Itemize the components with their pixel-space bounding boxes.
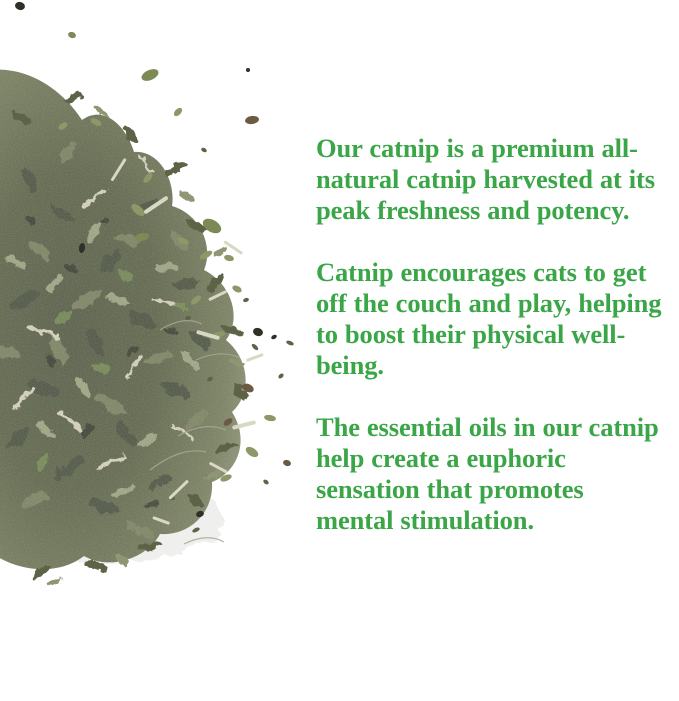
marketing-copy: Our catnip is a premium all-natural catn… bbox=[316, 133, 668, 536]
copy-paragraph-essential-oils: The essential oils in our catnip help cr… bbox=[316, 412, 668, 536]
catnip-product-photo bbox=[0, 0, 330, 620]
copy-paragraph-quality: Our catnip is a premium all-natural catn… bbox=[316, 133, 668, 226]
product-marketing-graphic: Our catnip is a premium all-natural catn… bbox=[0, 0, 679, 701]
copy-paragraph-activity: Catnip encourages cats to get off the co… bbox=[316, 257, 668, 381]
catnip-illustration bbox=[0, 0, 330, 620]
